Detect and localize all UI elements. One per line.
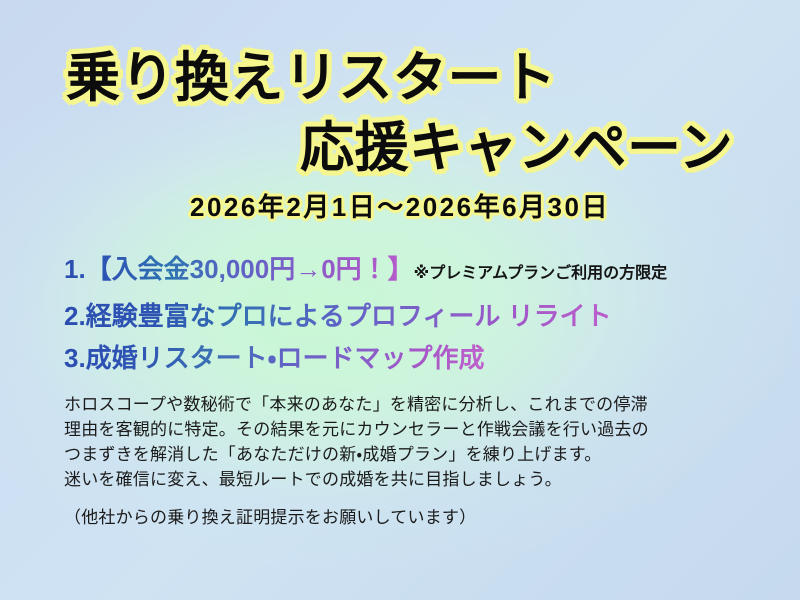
campaign-period-text: 2026年2月1日〜2026年6月30日	[190, 190, 610, 224]
benefit-item-3: 3.成婚リスタート・ロードマップ作成	[64, 339, 784, 377]
body-paragraph: ホロスコープや数秘術で「本来のあなた」を精密に分析し、これまでの停滞 理由を客観…	[64, 392, 764, 492]
benefit-item-2-label: 2.経験豊富なプロによるプロフィール リライト	[64, 301, 612, 331]
body-line-1: ホロスコープや数秘術で「本来のあなた」を精密に分析し、これまでの停滞	[64, 392, 764, 417]
benefit-item-3-label: 3.成婚リスタート・ロードマップ作成	[64, 343, 485, 373]
poster-content: 乗り換えリスタート 応援キャンペーン 2026年2月1日〜2026年6月30日 …	[0, 0, 800, 600]
benefit-item-1-label: 1.【入会金30,000円→0円！】	[64, 254, 414, 284]
promo-poster: 乗り換えリスタート 応援キャンペーン 2026年2月1日〜2026年6月30日 …	[0, 0, 800, 600]
closing-note: （他社からの乗り換え証明提示をお願いしています）	[64, 505, 476, 530]
campaign-period-band: 2026年2月1日〜2026年6月30日	[0, 190, 800, 224]
body-line-2: 理由を客観的に特定。その結果を元にカウンセラーと作戦会議を行い過去の	[64, 417, 764, 442]
headline-block: 乗り換えリスタート 応援キャンペーン	[0, 48, 800, 178]
benefit-item-1-note: ※プレミアムプランご利用の方限定	[414, 265, 667, 282]
headline-line-2: 応援キャンペーン	[0, 118, 800, 178]
benefit-item-1: 1.【入会金30,000円→0円！】※プレミアムプランご利用の方限定	[64, 250, 784, 293]
headline-line-1: 乗り換えリスタート	[0, 48, 800, 108]
body-line-3: つまずきを解消した「あなただけの新・成婚プラン」を練り上げます。	[64, 442, 764, 467]
benefit-item-2: 2.経験豊富なプロによるプロフィール リライト	[64, 297, 784, 335]
benefit-list: 1.【入会金30,000円→0円！】※プレミアムプランご利用の方限定 2.経験豊…	[64, 250, 784, 381]
body-line-4: 迷いを確信に変え、最短ルートでの成婚を共に目指しましょう。	[64, 467, 764, 492]
